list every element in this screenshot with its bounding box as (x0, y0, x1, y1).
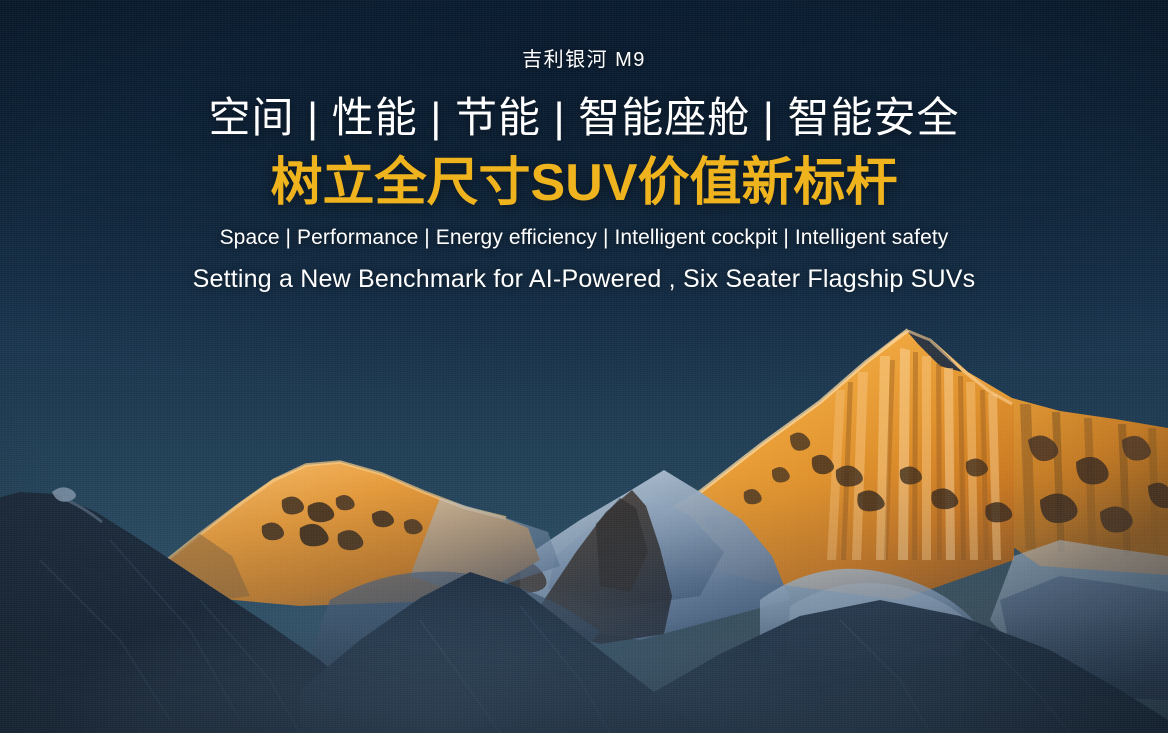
headline-cn-gold: 树立全尺寸SUV价值新标杆 (0, 150, 1168, 216)
feature-list-en: Space | Performance | Energy efficiency … (0, 224, 1168, 252)
hero-banner: 吉利银河 M9 空间 | 性能 | 节能 | 智能座舱 | 智能安全 树立全尺寸… (0, 0, 1168, 733)
tagline-en: Setting a New Benchmark for AI-Powered ,… (0, 263, 1168, 295)
product-name-label: 吉利银河 M9 (0, 47, 1168, 73)
feature-list-cn: 空间 | 性能 | 节能 | 智能座舱 | 智能安全 (0, 90, 1168, 146)
hero-text-block: 吉利银河 M9 空间 | 性能 | 节能 | 智能座舱 | 智能安全 树立全尺寸… (0, 0, 1168, 295)
